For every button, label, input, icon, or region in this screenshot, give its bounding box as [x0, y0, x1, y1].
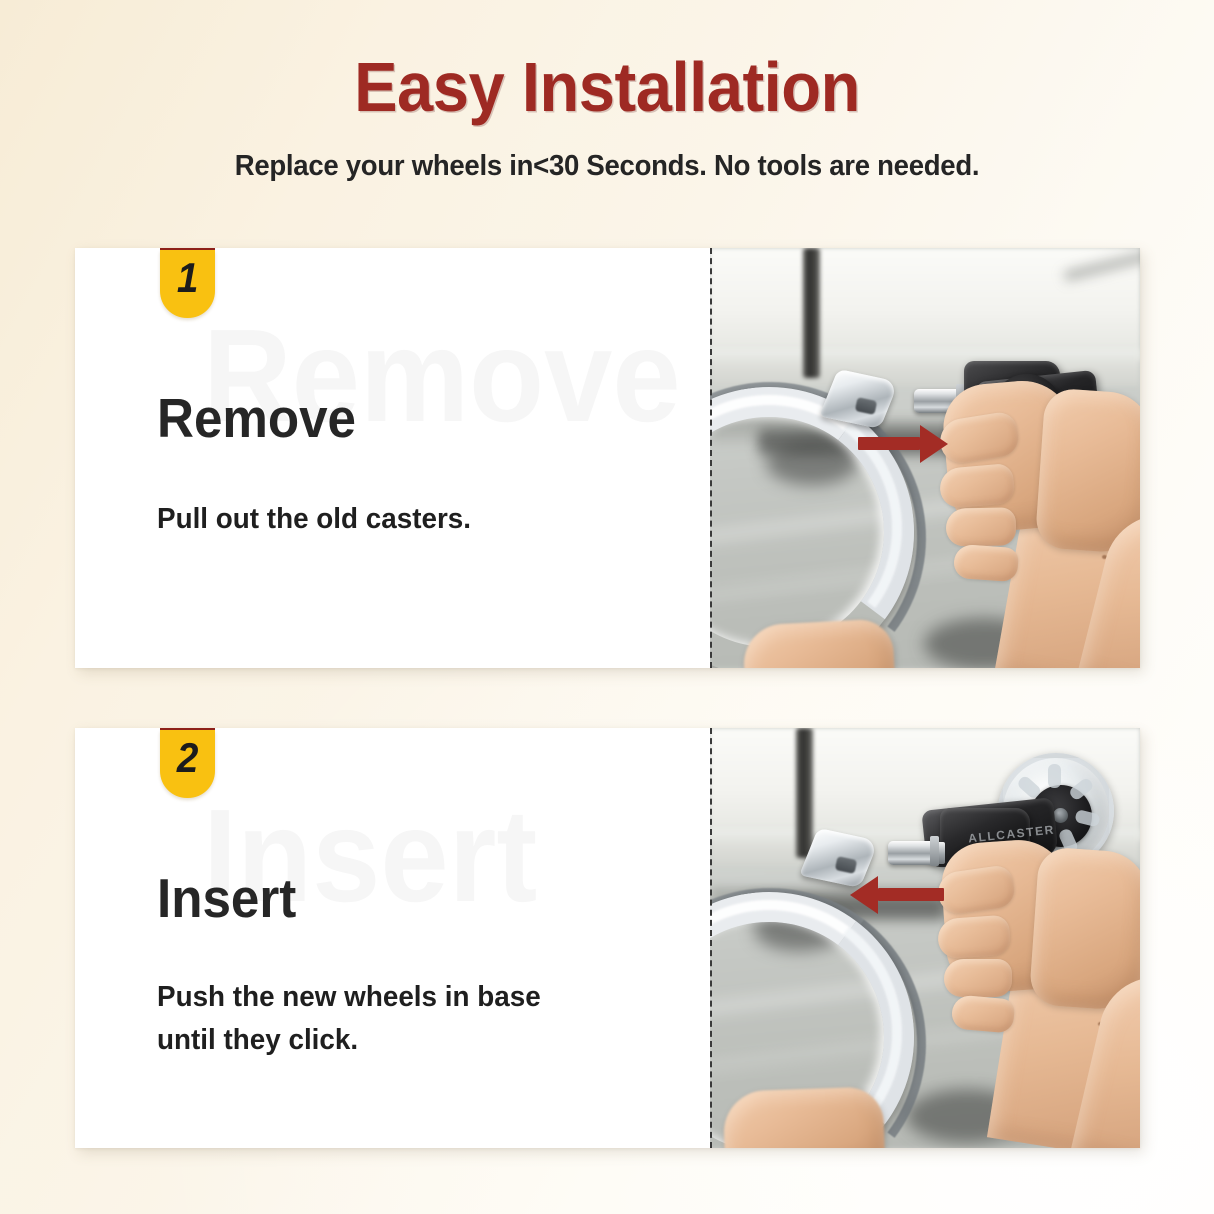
- badge-number: 2: [177, 730, 198, 786]
- step-heading-insert: Insert: [157, 868, 296, 928]
- badge-body: 2: [160, 730, 215, 798]
- step-body-line-1: Push the new wheels in base: [157, 976, 656, 1019]
- arrow-pull-direction: [858, 435, 948, 453]
- step-badge-1: 1: [160, 248, 215, 318]
- dashed-divider: [710, 248, 712, 668]
- step-body-remove: Pull out the old casters.: [157, 498, 656, 541]
- page-subtitle: Replace your wheels in<30 Seconds. No to…: [30, 148, 1183, 184]
- step-photo-insert: ALLCASTER: [710, 728, 1140, 1148]
- poster-canvas: Easy Installation Replace your wheels in…: [0, 0, 1214, 1214]
- step-card-insert: Insert Insert Push the new wheels in bas…: [75, 728, 1140, 1148]
- arrow-push-direction: [850, 886, 944, 904]
- dashed-divider: [710, 728, 712, 1148]
- step-body-insert: Push the new wheels in base until they c…: [157, 976, 656, 1062]
- page-title: Easy Installation: [42, 48, 1171, 126]
- badge-number: 1: [177, 250, 198, 306]
- step-badge-2: 2: [160, 728, 215, 798]
- step-card-remove: Remove Remove Pull out the old casters.: [75, 248, 1140, 668]
- step-heading-remove: Remove: [157, 388, 356, 448]
- header: Easy Installation Replace your wheels in…: [0, 0, 1214, 184]
- step-body-line-2: until they click.: [157, 1019, 656, 1062]
- badge-body: 1: [160, 250, 215, 318]
- step-photo-remove: [710, 248, 1140, 668]
